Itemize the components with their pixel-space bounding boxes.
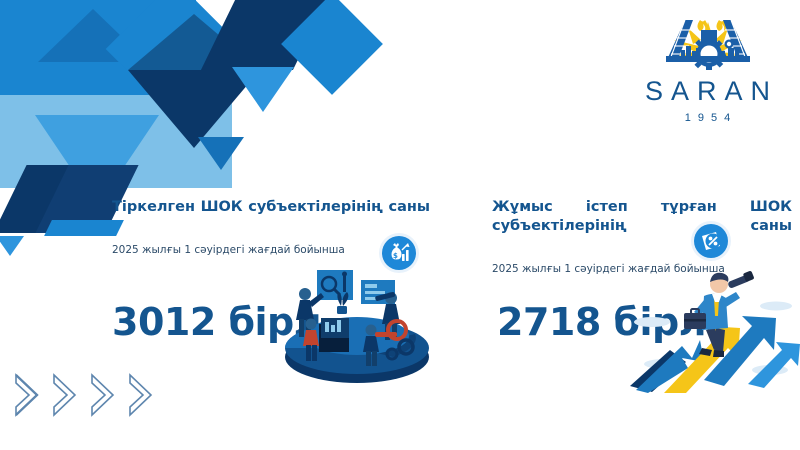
brand-year: 1954: [625, 112, 790, 124]
svg-text:$: $: [393, 252, 398, 260]
kpi-title: Тіркелген ШОК субъектілерінің саны: [112, 198, 430, 236]
chevron-right-icon: [88, 371, 118, 423]
percent-tag-icon: [694, 224, 728, 258]
business-analytics-team-pie-chart-illustration: [275, 262, 440, 391]
chevron-right-icon: [50, 371, 80, 423]
brand-name: SARAN: [625, 76, 790, 107]
slide-canvas: SARAN 1954 Тіркелген ШОК субъектілерінің…: [0, 0, 800, 450]
businessman-telescope-growth-arrows-illustration: [630, 258, 800, 397]
geo-triangle-down-mid: [232, 67, 294, 112]
chevron-right-icon: [126, 371, 156, 423]
chevron-right-icon: [12, 371, 42, 423]
geo-triangle-down-tiny: [0, 236, 24, 256]
kpi-panel-registered-sme: Тіркелген ШОК субъектілерінің саны 2025 …: [112, 198, 430, 256]
saran-city-emblem-icon: [633, 4, 783, 74]
kpi-title: Жұмыс істеп тұрған ШОК субъектілерінің с…: [492, 198, 792, 255]
brand-logo: SARAN 1954: [625, 4, 790, 124]
geo-triangle-down-small: [198, 137, 244, 170]
chevron-group: [12, 371, 159, 423]
